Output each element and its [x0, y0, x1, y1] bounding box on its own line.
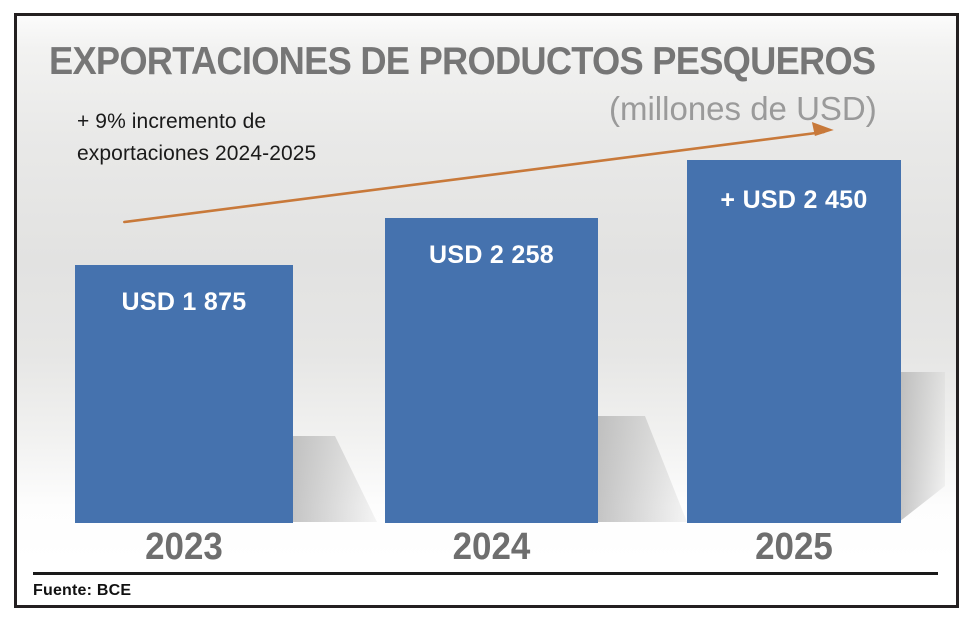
infographic-root: EXPORTACIONES DE PRODUCTOS PESQUEROS (mi…	[0, 0, 973, 621]
bar-label-2024: USD 2 258	[385, 241, 598, 270]
chart-area: EXPORTACIONES DE PRODUCTOS PESQUEROS (mi…	[17, 16, 956, 605]
category-label-2025: 2025	[696, 526, 893, 569]
bar-label-2023: USD 1 875	[75, 288, 293, 317]
page-title: EXPORTACIONES DE PRODUCTOS PESQUEROS	[49, 40, 875, 84]
footer-divider	[33, 572, 938, 575]
category-label-2023: 2023	[84, 526, 285, 569]
category-label-2024: 2024	[394, 526, 590, 569]
growth-annotation: + 9% incremento de exportaciones 2024-20…	[77, 106, 316, 170]
chart-subtitle: (millones de USD)	[609, 90, 877, 128]
chart-frame: EXPORTACIONES DE PRODUCTOS PESQUEROS (mi…	[14, 13, 959, 608]
bar-label-2025: + USD 2 450	[687, 186, 901, 215]
source-label: Fuente: BCE	[33, 582, 131, 600]
